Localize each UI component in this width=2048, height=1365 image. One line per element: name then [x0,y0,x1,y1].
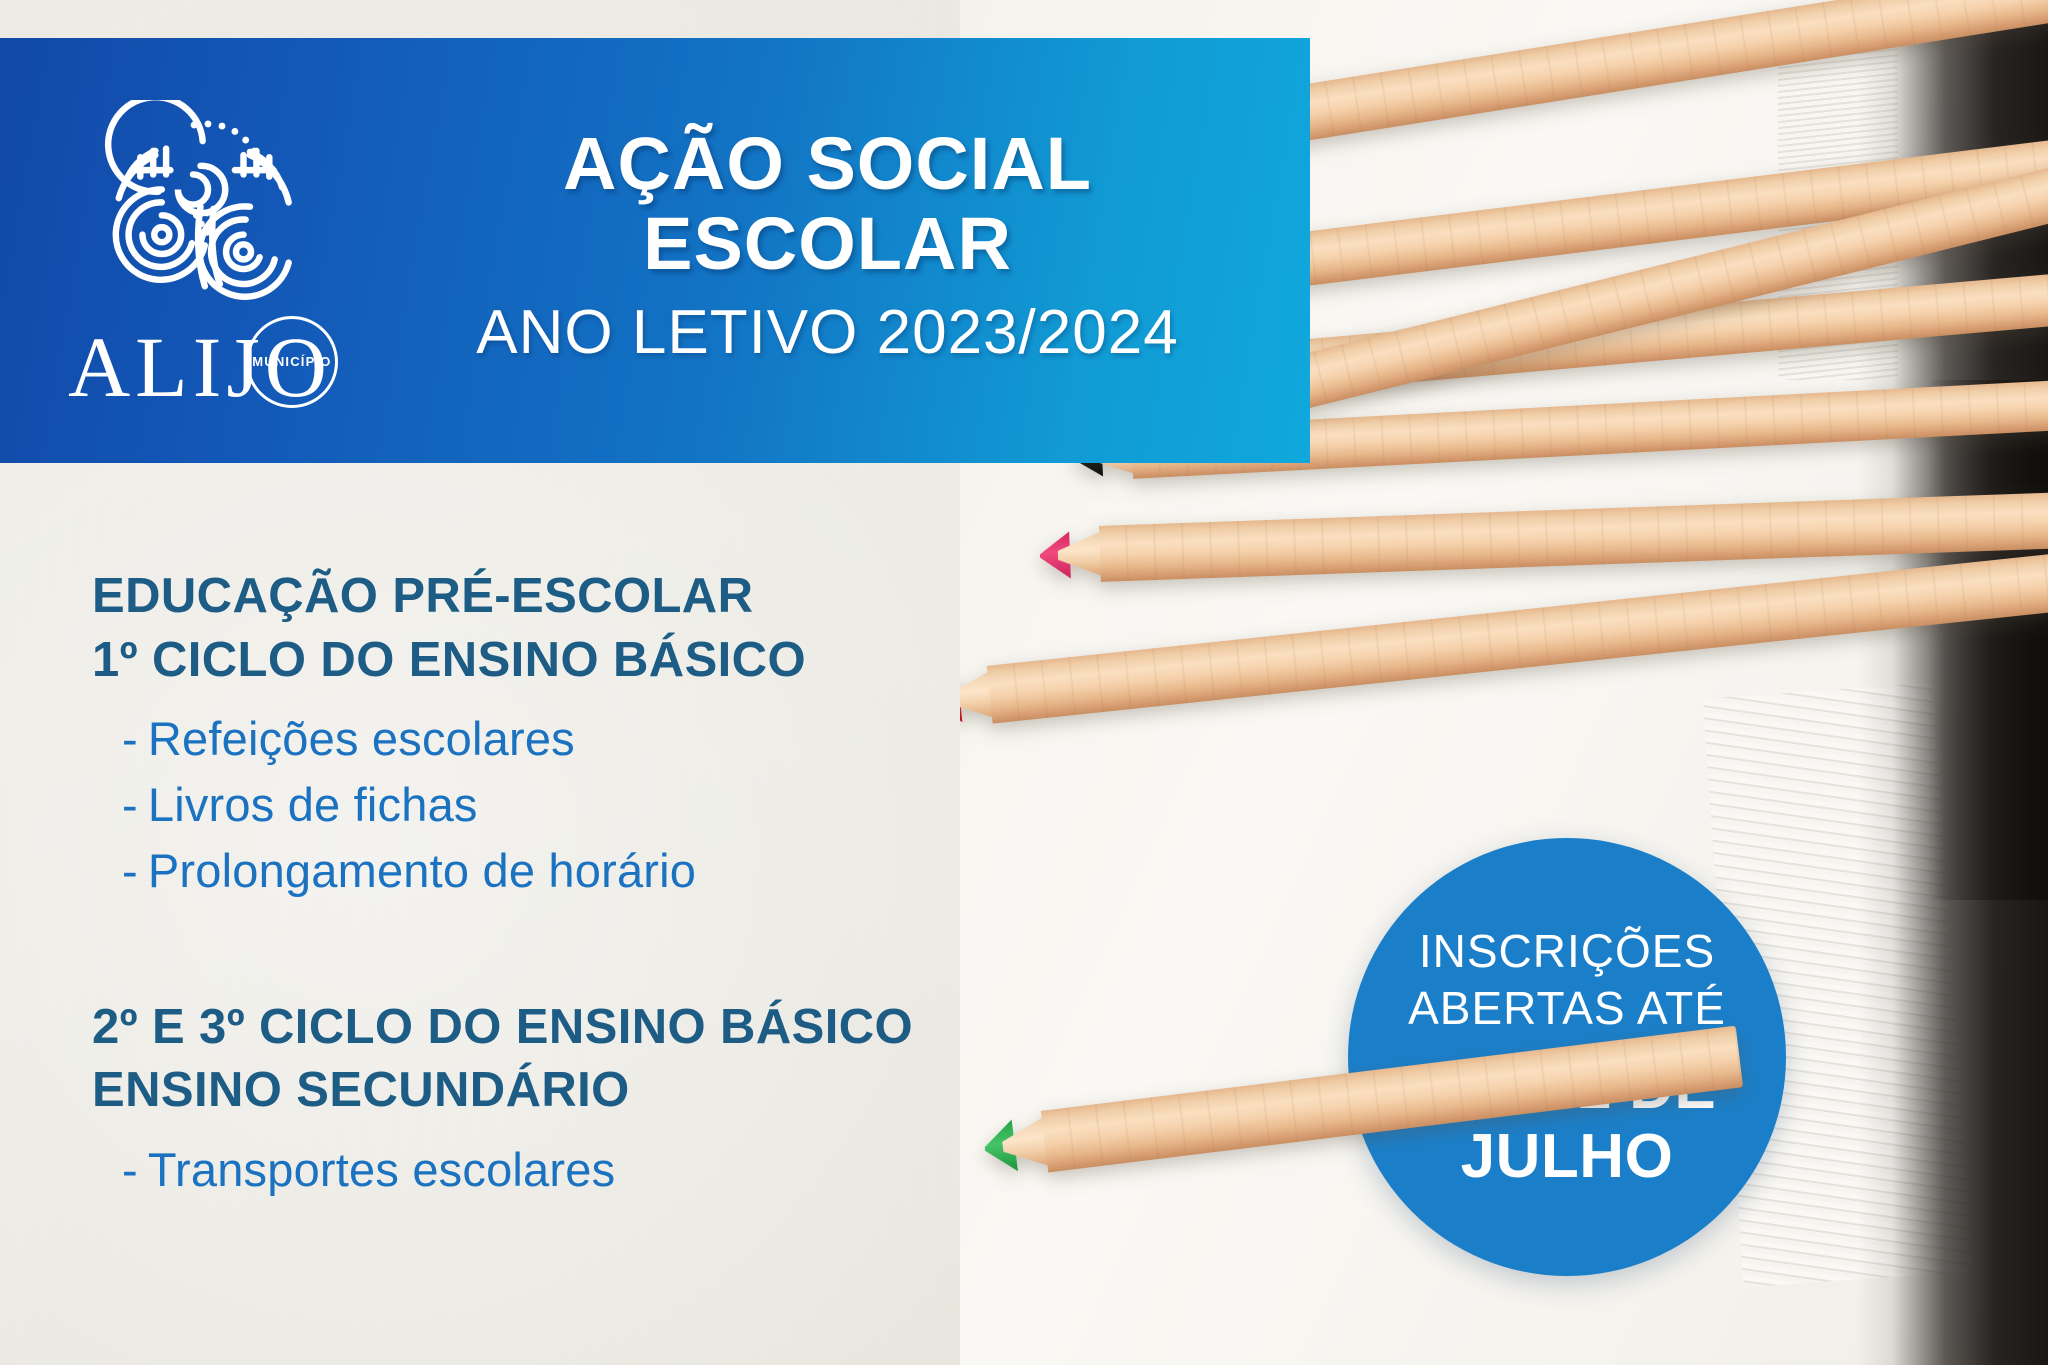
banner-title-block: AÇÃO SOCIAL ESCOLAR ANO LETIVO 2023/2024 [400,124,1310,377]
poster-subtitle: ANO LETIVO 2023/2024 [400,294,1255,372]
badge-deadline-line-2: JULHO [1461,1122,1674,1191]
list-item-label: Prolongamento de horário [148,844,696,897]
list-item-label: Livros de fichas [148,778,478,831]
municipality-logo: ALIJO MUNICÍPIO [0,92,400,410]
group-bullet-list: -Transportes escolares [92,1137,1092,1203]
program-group-1: EDUCAÇÃO PRÉ-ESCOLAR 1º CICLO DO ENSINO … [92,565,1092,904]
header-banner: ALIJO MUNICÍPIO AÇÃO SOCIAL ESCOLAR ANO … [0,38,1310,463]
program-group-2: 2º E 3º CICLO DO ENSINO BÁSICO ENSINO SE… [92,996,1092,1203]
list-item: -Refeições escolares [122,706,1092,772]
bullet-dash: - [122,1143,138,1196]
list-item: -Transportes escolares [122,1137,1092,1203]
group-heading: 2º E 3º CICLO DO ENSINO BÁSICO [92,996,1092,1060]
group-heading: 1º CICLO DO ENSINO BÁSICO [92,629,1092,693]
list-item-label: Refeições escolares [148,712,575,765]
alijo-spiral-fingerprint-logo-icon [93,100,308,322]
badge-line-2: ABERTAS ATÉ [1408,980,1726,1037]
poster-root: ALIJO MUNICÍPIO AÇÃO SOCIAL ESCOLAR ANO … [0,0,2048,1365]
bullet-dash: - [122,712,138,765]
content-block: EDUCAÇÃO PRÉ-ESCOLAR 1º CICLO DO ENSINO … [92,565,1092,1203]
logo-wordmark: ALIJO MUNICÍPIO [68,324,332,410]
logo-municipio-text: MUNICÍPIO [252,354,331,369]
bullet-dash: - [122,844,138,897]
group-heading: ENSINO SECUNDÁRIO [92,1059,1092,1123]
badge-line-1: INSCRIÇÕES [1419,923,1715,980]
list-item-label: Transportes escolares [148,1143,615,1196]
group-bullet-list: -Refeições escolares -Livros de fichas -… [92,706,1092,903]
poster-title-line-2: ESCOLAR [400,204,1255,284]
bullet-dash: - [122,778,138,831]
group-heading: EDUCAÇÃO PRÉ-ESCOLAR [92,565,1092,629]
logo-municipio-badge: MUNICÍPIO [246,316,338,408]
list-item: -Livros de fichas [122,772,1092,838]
book-dark-edge-inner [1928,380,2048,900]
list-item: -Prolongamento de horário [122,838,1092,904]
poster-title-line-1: AÇÃO SOCIAL [400,124,1255,204]
